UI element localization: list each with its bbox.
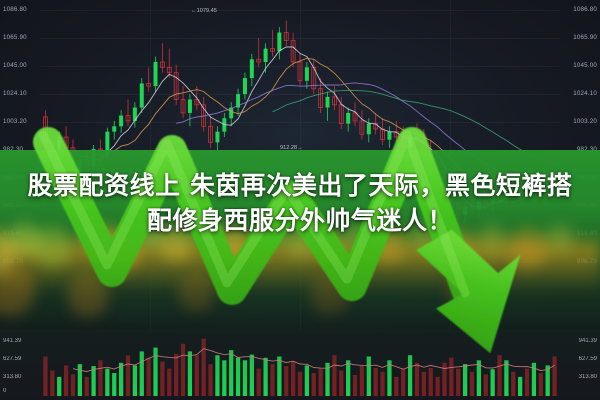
price-axis-tick-right: 1045.00 bbox=[573, 62, 597, 69]
price-axis-tick-right: 898.70 bbox=[577, 258, 597, 265]
price-axis-tick-right: 1003.20 bbox=[573, 118, 597, 125]
volume-axis-tick-right: 313.80 bbox=[579, 374, 597, 380]
price-axis-tick-left: 1086.80 bbox=[3, 6, 27, 13]
price-axis-tick-left: 1003.20 bbox=[3, 118, 27, 125]
price-axis-tick-left: 940.50 bbox=[3, 202, 23, 209]
price-axis-tick-right: 919.60 bbox=[577, 230, 597, 237]
price-axis-tick-left: 1024.10 bbox=[3, 90, 27, 97]
low-price-annotation: 912.28→ bbox=[280, 145, 303, 151]
volume-bars bbox=[0, 330, 600, 400]
volume-chart-panel: 941.39 627.59 313.80 0 941.39 627.59 313… bbox=[0, 330, 600, 400]
price-axis-tick-left: 1045.00 bbox=[3, 62, 27, 69]
volume-axis-tick-left: 627.59 bbox=[3, 356, 21, 362]
price-axis-tick-right: 1086.80 bbox=[573, 6, 597, 13]
price-axis-tick-right: 1024.10 bbox=[573, 90, 597, 97]
price-axis-tick-left: 961.40 bbox=[3, 174, 23, 181]
volume-axis-tick-left: 0 bbox=[3, 388, 6, 394]
screenshot-root: 1086.80 1065.90 1045.00 1024.10 1003.20 … bbox=[0, 0, 600, 400]
price-axis-tick-left: 982.30 bbox=[3, 146, 23, 153]
price-axis-tick-left: 898.70 bbox=[3, 258, 23, 265]
high-price-annotation: ←1079.45 bbox=[191, 8, 217, 14]
volume-axis-tick-right: 627.59 bbox=[579, 356, 597, 362]
volume-axis-tick-right: 941.39 bbox=[579, 338, 597, 344]
price-axis-tick-right: 1065.90 bbox=[573, 34, 597, 41]
price-axis-tick-right: 982.30 bbox=[577, 146, 597, 153]
price-axis-tick-right: 940.50 bbox=[577, 202, 597, 209]
price-axis-tick-right: 961.40 bbox=[577, 174, 597, 181]
candlestick-chart bbox=[0, 0, 600, 330]
price-axis-tick-left: 919.60 bbox=[3, 230, 23, 237]
volume-axis-tick-left: 313.80 bbox=[3, 374, 21, 380]
price-axis-tick-left: 1065.90 bbox=[3, 34, 27, 41]
volume-axis-tick-left: 941.39 bbox=[3, 338, 21, 344]
price-chart-panel: 1086.80 1065.90 1045.00 1024.10 1003.20 … bbox=[0, 0, 600, 330]
